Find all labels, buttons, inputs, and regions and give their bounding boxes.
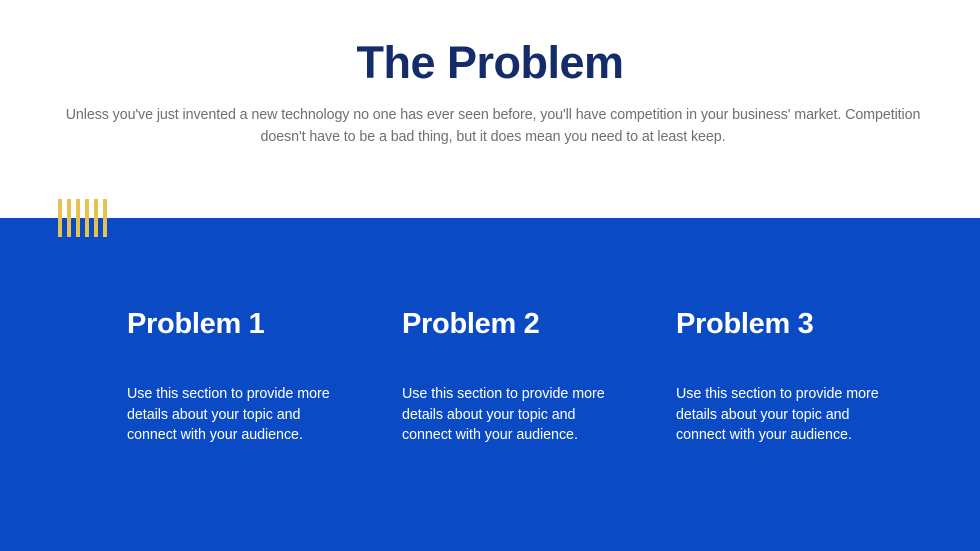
problem-2-heading: Problem 2 — [402, 308, 642, 341]
gold-bar-4 — [85, 199, 89, 237]
problem-2-body: Use this section to provide more details… — [402, 384, 612, 446]
gold-bar-6 — [103, 199, 107, 237]
problem-columns: Problem 1 Use this section to provide mo… — [0, 218, 980, 551]
gold-bar-3 — [76, 199, 80, 237]
gold-bars-decoration-icon — [58, 199, 107, 237]
page-title: The Problem — [0, 38, 980, 88]
problem-1-heading: Problem 1 — [127, 308, 367, 341]
slide-canvas: The Problem Unless you've just invented … — [0, 0, 980, 551]
gold-bar-2 — [67, 199, 71, 237]
problem-3-heading: Problem 3 — [676, 308, 916, 341]
problem-1-body: Use this section to provide more details… — [127, 384, 337, 446]
gold-bar-1 — [58, 199, 62, 237]
problem-3-body: Use this section to provide more details… — [676, 384, 886, 446]
subtitle-line-1: Unless you've just invented a new techno… — [66, 107, 842, 123]
gold-bar-5 — [94, 199, 98, 237]
subtitle: Unless you've just invented a new techno… — [60, 104, 926, 148]
